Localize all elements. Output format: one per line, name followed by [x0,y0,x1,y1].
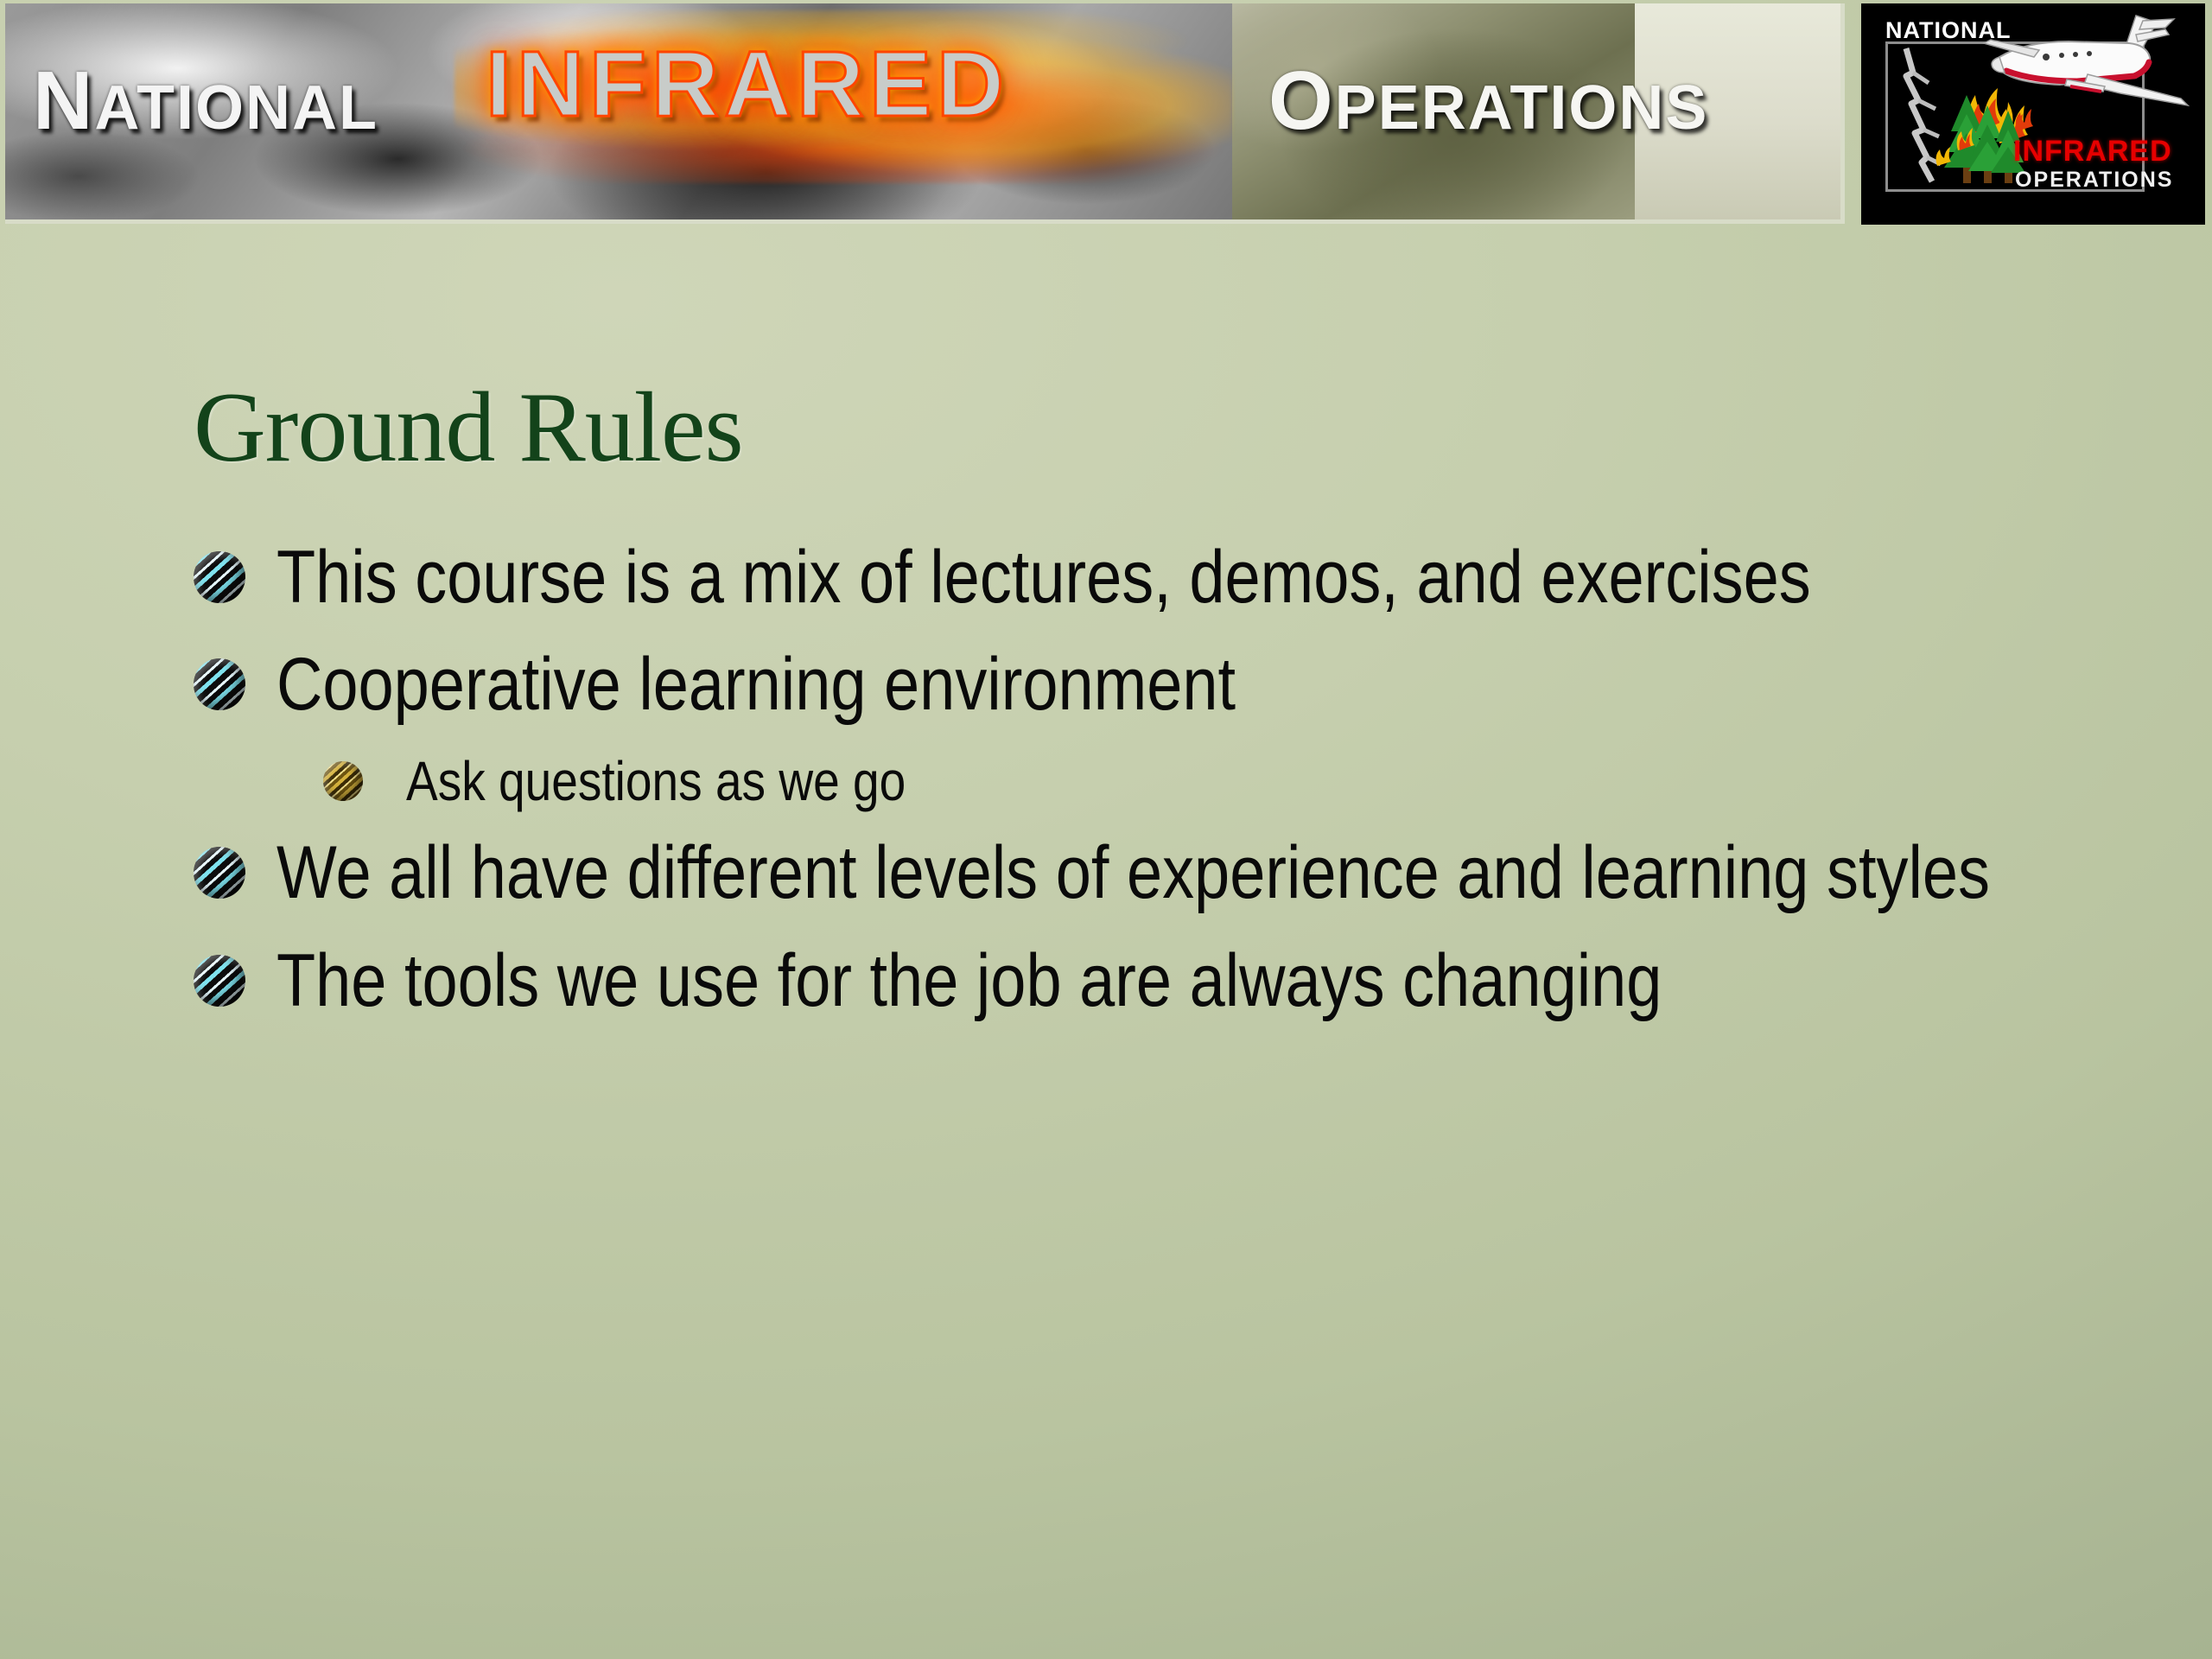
list-item-label: The tools we use for the job are always … [276,939,2095,1022]
banner-word-operations: OPERATIONS [1268,54,1708,149]
logo-infrared-label: INFRARED [2013,135,2172,168]
aircraft-icon [1984,16,2188,105]
banner-word-national: NATIONAL [33,54,378,149]
page-title: Ground Rules [194,378,743,478]
list-item-label: This course is a mix of lectures, demos,… [276,536,2095,619]
logo-operations-label: OPERATIONS [2015,168,2173,193]
cyan-striped-sphere-bullet-icon [194,551,245,603]
sub-list-item: Ask questions as we go [181,751,2100,813]
sub-list-item-label: Ask questions as we go [406,751,2095,813]
banner-word-infrared: INFRARED [486,29,1009,137]
presentation-slide: NATIONAL INFRARED OPERATIONS NATIONAL [0,0,2212,1659]
banner-operations-capital: O [1268,54,1335,147]
banner-operations-rest: PERATIONS [1335,73,1709,143]
lightning-icon [1906,48,1941,181]
list-item: Cooperative learning environment [181,643,2100,726]
cyan-striped-sphere-bullet-icon [194,658,245,710]
banner-national-capital: N [33,54,94,147]
logo-national-label: NATIONAL [1885,17,2011,44]
cyan-striped-sphere-bullet-icon [194,847,245,899]
list-item-label: Cooperative learning environment [276,643,2095,726]
list-item: We all have different levels of experien… [181,831,2100,914]
cyan-striped-sphere-bullet-icon [194,955,245,1007]
header-banner: NATIONAL INFRARED OPERATIONS [5,3,1845,224]
national-infrared-operations-logo: NATIONAL [1861,3,2205,225]
banner-national-rest: ATIONAL [94,73,378,143]
list-item: The tools we use for the job are always … [181,939,2100,1022]
list-item-label: We all have different levels of experien… [276,831,2095,914]
bullet-list: This course is a mix of lectures, demos,… [181,536,2100,1046]
list-item: This course is a mix of lectures, demos,… [181,536,2100,619]
gold-striped-sphere-bullet-icon [323,761,363,801]
